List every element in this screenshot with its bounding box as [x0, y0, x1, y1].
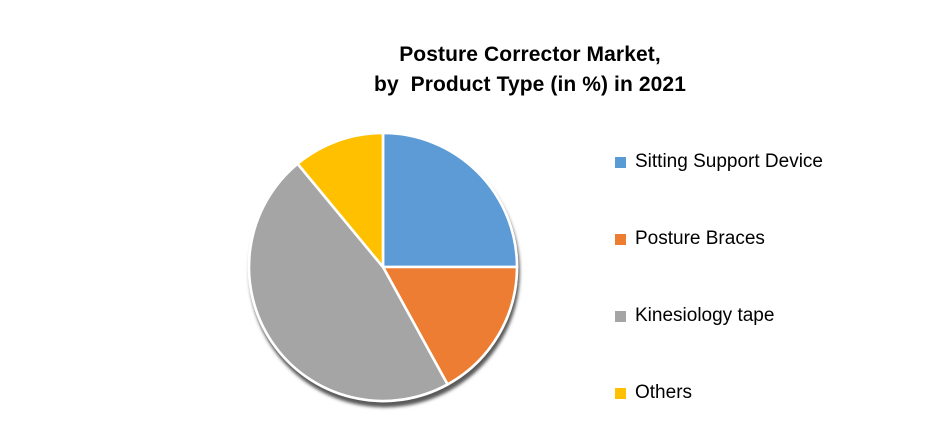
legend-item-label: Sitting Support Device [635, 150, 823, 174]
square-marker-icon [615, 311, 626, 322]
square-marker-icon [615, 388, 626, 399]
chart-legend: Sitting Support Device Posture Braces Ki… [615, 150, 935, 405]
square-marker-icon [615, 234, 626, 245]
chart-plot-area [0, 0, 600, 447]
legend-item-sitting-support-device[interactable]: Sitting Support Device [615, 150, 935, 174]
pie-slice[interactable] [383, 133, 517, 267]
legend-item-posture-braces[interactable]: Posture Braces [615, 227, 935, 251]
square-marker-icon [615, 157, 626, 168]
pie-slice-group [249, 133, 517, 401]
legend-item-label: Others [635, 381, 692, 405]
legend-item-others[interactable]: Others [615, 381, 935, 405]
legend-item-label: Posture Braces [635, 227, 765, 251]
legend-item-kinesiology-tape[interactable]: Kinesiology tape [615, 304, 935, 328]
legend-item-label: Kinesiology tape [635, 304, 774, 328]
pie-chart [229, 119, 539, 419]
